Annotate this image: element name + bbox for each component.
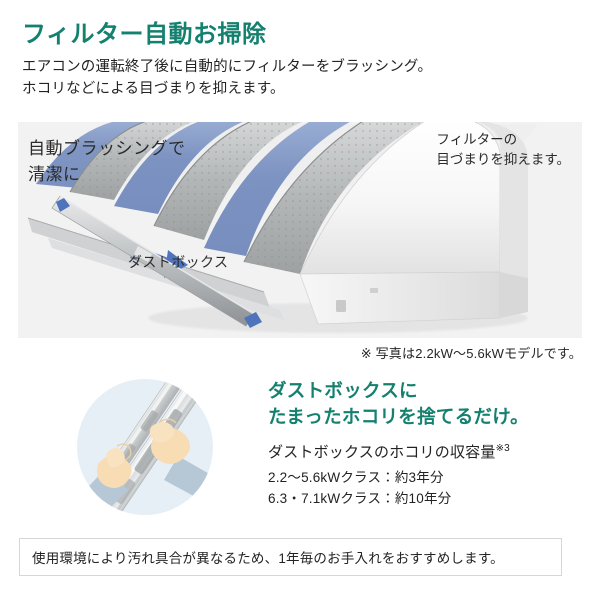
capacity-footnote-marker: ※3 [496, 443, 510, 454]
capacity-row-large: 6.3・7.1kWクラス：約10年分 [268, 488, 588, 510]
maintenance-note-box: 使用環境により汚れ具合が異なるため、1年毎のお手入れをおすすめします。 [19, 538, 562, 576]
illustration-caption-left-line-1: 自動ブラッシングで [28, 139, 186, 158]
dust-box-photo [70, 372, 220, 522]
dust-box-heading-line-1: ダストボックスに [268, 378, 588, 404]
illustration-caption-right: フィルターの 目づまりを抑えます。 [436, 130, 570, 171]
dust-box-heading: ダストボックスに たまったホコリを捨てるだけ。 [268, 378, 588, 431]
page-title: フィルター自動お掃除 [22, 20, 582, 50]
product-feature-page: フィルター自動お掃除 エアコンの運転終了後に自動的にフィルターをブラッシング。 … [0, 0, 600, 600]
dust-box-heading-line-2: たまったホコリを捨てるだけ。 [268, 404, 588, 430]
illustration-footnote: ※ 写真は2.2kW〜5.6kWモデルです。 [18, 343, 582, 362]
illustration-caption-right-line-1: フィルターの [436, 132, 517, 147]
capacity-row-small: 2.2〜5.6kWクラス：約3年分 [268, 467, 588, 489]
header: フィルター自動お掃除 エアコンの運転終了後に自動的にフィルターをブラッシング。 … [22, 20, 582, 100]
dust-box-photo-svg [70, 372, 220, 522]
dust-box-label: ダストボックス [128, 252, 228, 272]
lead-paragraph: エアコンの運転終了後に自動的にフィルターをブラッシング。 ホコリなどによる目づま… [22, 56, 582, 100]
illustration-caption-right-line-2: 目づまりを抑えます。 [436, 152, 570, 167]
lead-line-1: エアコンの運転終了後に自動的にフィルターをブラッシング。 [22, 56, 582, 78]
lead-line-2: ホコリなどによる目づまりを抑えます。 [22, 78, 582, 100]
maintenance-note-text: 使用環境により汚れ具合が異なるため、1年毎のお手入れをおすすめします。 [20, 547, 504, 567]
illustration-caption-left-line-2: 清潔に [28, 165, 81, 184]
capacity-subheading: ダストボックスのホコリの収容量※3 [268, 441, 588, 462]
illustration-caption-left: 自動ブラッシングで 清潔に [28, 136, 186, 188]
capacity-subheading-text: ダストボックスのホコリの収容量 [268, 444, 496, 461]
dust-box-text-block: ダストボックスに たまったホコリを捨てるだけ。 ダストボックスのホコリの収容量※… [268, 378, 588, 510]
illustration-panel: 自動ブラッシングで 清潔に フィルターの 目づまりを抑えます。 ダストボックス [18, 122, 582, 338]
